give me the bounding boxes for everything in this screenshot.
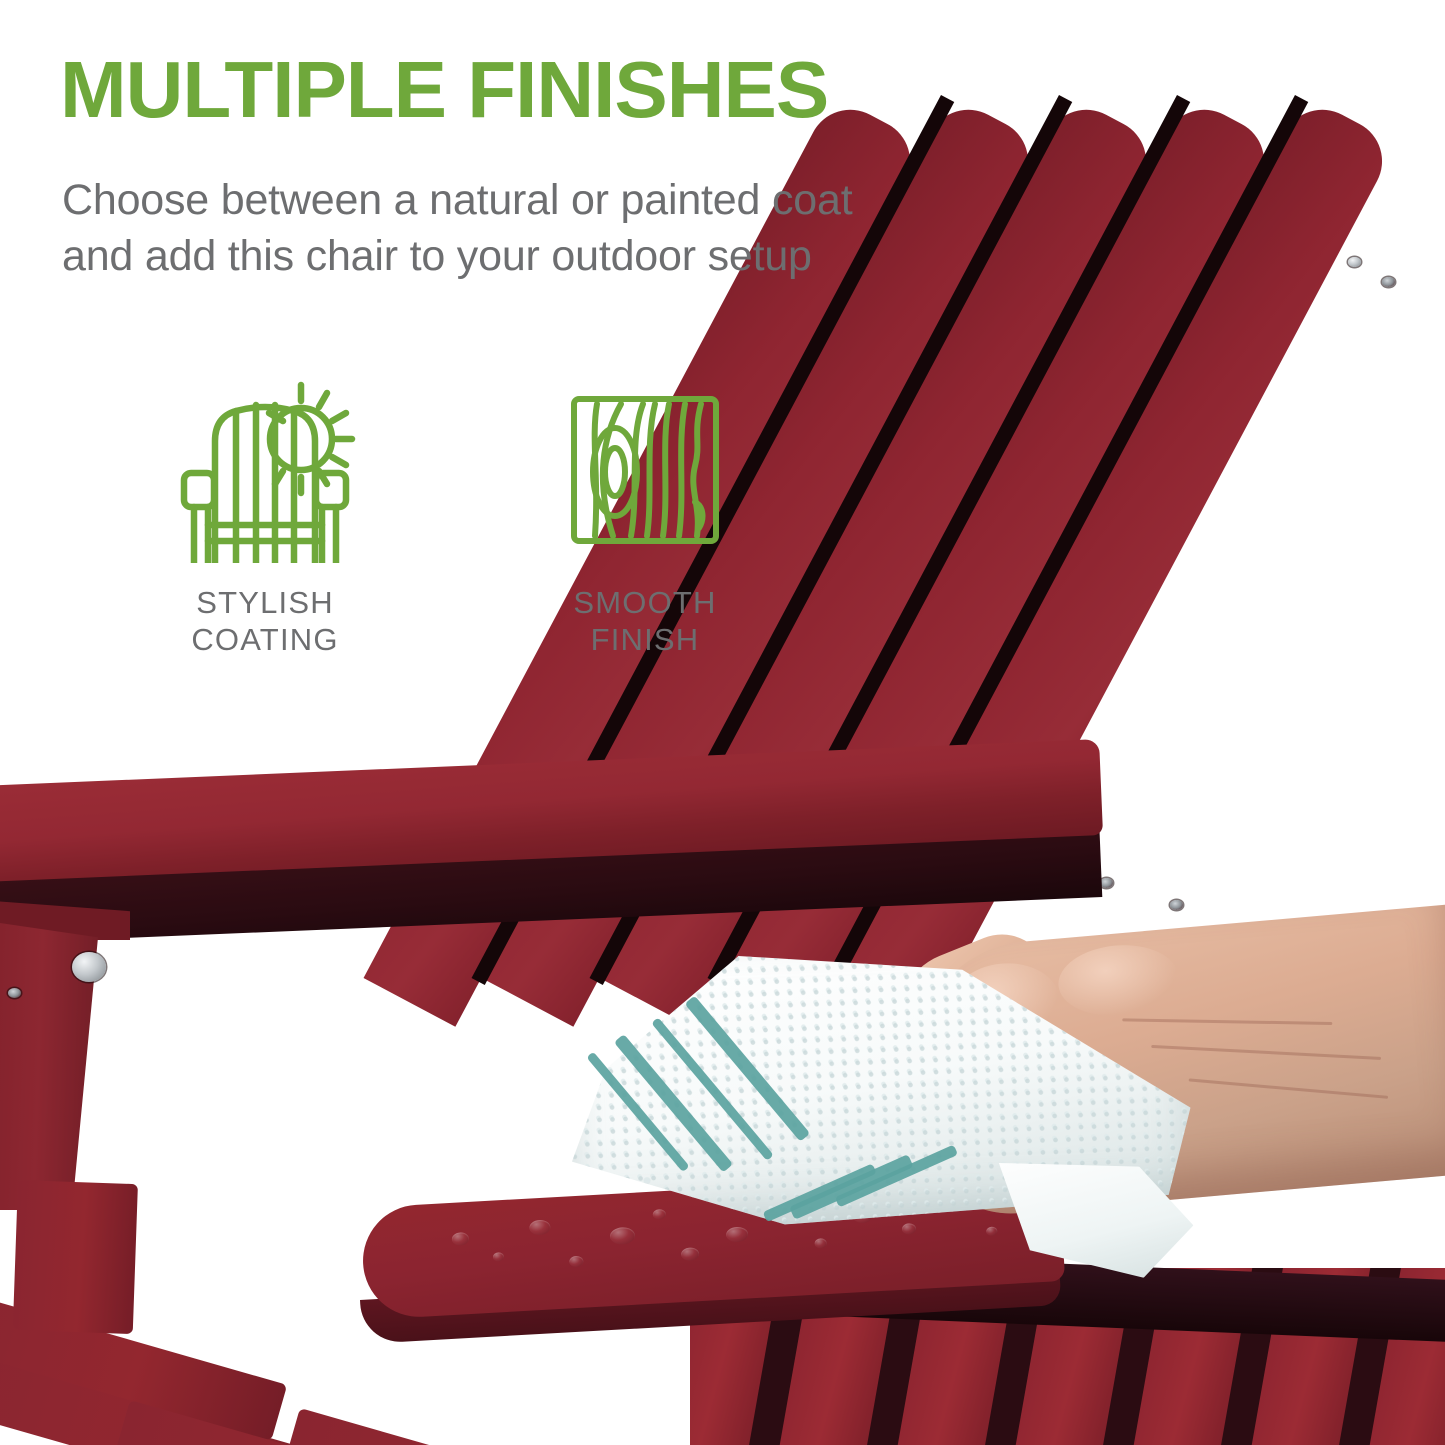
water-droplet bbox=[986, 1226, 997, 1236]
page-title: MULTIPLE FINISHES bbox=[60, 48, 828, 132]
feature-stylish-coating: STYLISH COATING bbox=[160, 370, 370, 658]
screw-icon bbox=[1382, 277, 1395, 287]
vein bbox=[1189, 1078, 1389, 1098]
feature-label: STYLISH COATING bbox=[160, 584, 370, 658]
seat-slat bbox=[285, 1408, 704, 1445]
water-droplet bbox=[452, 1232, 470, 1246]
water-droplet bbox=[902, 1223, 917, 1235]
wood-grain-icon bbox=[540, 370, 750, 570]
feature-smooth-finish: SMOOTH FINISH bbox=[540, 370, 750, 658]
page-subtitle: Choose between a natural or painted coat… bbox=[62, 172, 852, 284]
feature-label: SMOOTH FINISH bbox=[540, 584, 750, 658]
screw-icon bbox=[1100, 878, 1113, 888]
water-droplet bbox=[529, 1219, 551, 1235]
chair-sun-icon bbox=[160, 370, 370, 570]
water-droplet bbox=[493, 1252, 504, 1262]
marketing-image: MULTIPLE FINISHES Choose between a natur… bbox=[0, 0, 1445, 1445]
screw-icon bbox=[8, 988, 21, 998]
water-droplet bbox=[681, 1247, 700, 1261]
water-droplet bbox=[726, 1226, 749, 1242]
screw-icon bbox=[1348, 257, 1361, 267]
chair-front-leg bbox=[13, 1180, 138, 1334]
water-droplet bbox=[569, 1256, 584, 1268]
water-droplet bbox=[814, 1238, 827, 1249]
screw-icon bbox=[1170, 900, 1183, 910]
bolt-icon bbox=[72, 952, 106, 982]
